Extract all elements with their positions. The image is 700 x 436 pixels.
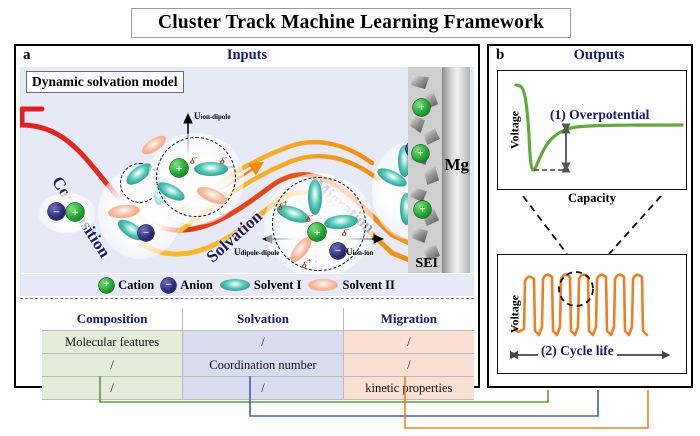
overpotential-annotation: (1) Overpotential — [550, 107, 649, 123]
panel-b-letter: b — [496, 47, 504, 64]
cycle-life-chart: Voltage (2) Cycle life — [497, 254, 687, 374]
overpotential-y-axis-label: Voltage — [508, 111, 523, 149]
overpotential-curve — [498, 71, 684, 187]
legend-label-anion: Anion — [180, 278, 213, 293]
delta-minus-mark: δ- — [190, 153, 198, 167]
solvent-2-icon — [308, 279, 338, 291]
sei-label: SEI — [415, 256, 438, 272]
table-header-solvation: Solvation — [183, 308, 343, 331]
column-connectors — [0, 376, 700, 436]
overpotential-chart: Voltage Capacity (1) Overpotential — [497, 70, 687, 190]
table-cell: / — [343, 354, 474, 377]
mg-electrode-label: Mg — [444, 155, 469, 175]
panel-inputs: a Inputs — [14, 44, 480, 388]
u-ion-ion-subscript: ion-ion — [353, 249, 374, 257]
sei-layer: + + + — [408, 67, 442, 273]
figure-title: Cluster Track Machine Learning Framework — [131, 8, 571, 38]
table-cell: Molecular features — [42, 331, 183, 354]
dynamic-solvation-model-box: Dynamic solvation model — [26, 71, 184, 93]
u-ion-ion-label: Uion-ion — [346, 247, 374, 257]
anion-icon: – — [138, 225, 154, 241]
solvation-schematic: Dynamic solvation model Composition Solv… — [20, 67, 474, 273]
u-dipole-dipole-label: Udipole-dipole — [234, 247, 279, 257]
cycle-life-annotation: (2) Cycle life — [538, 343, 617, 359]
cation-icon: + — [308, 223, 326, 241]
panel-a-header: a Inputs — [16, 46, 478, 66]
cation-icon: + — [412, 145, 429, 162]
table-cell: / — [183, 331, 343, 354]
legend-label-solvent-2: Solvent II — [342, 278, 394, 293]
delta-plus-mark: δ+ — [302, 257, 311, 271]
legend-item-anion: – Anion — [161, 278, 213, 293]
legend-item-solvent-2: Solvent II — [308, 278, 394, 293]
legend-item-cation: + Cation — [99, 278, 154, 293]
delta-minus-mark: δ- — [220, 153, 228, 167]
legend-item-solvent-1: Solvent I — [220, 278, 302, 293]
delta-plus-mark: δ+ — [278, 199, 287, 213]
cation-icon: + — [413, 99, 430, 116]
table-header-migration: Migration — [343, 308, 474, 331]
table-cell: / — [343, 331, 474, 354]
dynamic-solvation-model-label: Dynamic solvation model — [32, 74, 178, 89]
cycle-life-y-axis-label: Voltage — [508, 295, 523, 333]
u-ion-dipole-subscript: ion-dipole — [201, 113, 231, 121]
anion-icon: – — [330, 243, 346, 259]
cation-icon: + — [66, 203, 84, 221]
panel-a-divider — [20, 298, 474, 299]
solvent-1-icon — [220, 279, 250, 291]
legend-label-cation: Cation — [118, 278, 154, 293]
cation-icon: + — [170, 159, 188, 177]
table-cell: / — [42, 354, 183, 377]
anion-icon: – — [161, 278, 176, 293]
delta-minus-mark: δ- — [342, 225, 350, 239]
table-cell: Coordination number — [183, 354, 343, 377]
cation-icon: + — [414, 201, 431, 218]
panel-b-title: Outputs — [507, 47, 691, 64]
figure-title-text: Cluster Track Machine Learning Framework — [158, 12, 544, 34]
table-header-row: Composition Solvation Migration — [42, 308, 474, 331]
panel-outputs: b Outputs Voltage — [487, 44, 693, 388]
delta-minus-mark: δ- — [306, 211, 314, 225]
table-header-composition: Composition — [42, 308, 183, 331]
cation-icon: + — [99, 278, 114, 293]
table-row: / Coordination number / — [42, 354, 474, 377]
u-dipole-dipole-subscript: dipole-dipole — [241, 249, 280, 257]
species-legend: + Cation – Anion Solvent I Solvent II — [20, 274, 474, 296]
legend-label-solvent-1: Solvent I — [254, 278, 302, 293]
table-row: Molecular features / / — [42, 331, 474, 354]
u-ion-dipole-label: Uion-dipole — [194, 111, 230, 121]
ion-dipole-dashed-circle — [156, 137, 236, 217]
solvent-1-icon — [308, 179, 322, 215]
panel-a-title: Inputs — [16, 47, 478, 64]
anion-icon: – — [48, 203, 65, 220]
